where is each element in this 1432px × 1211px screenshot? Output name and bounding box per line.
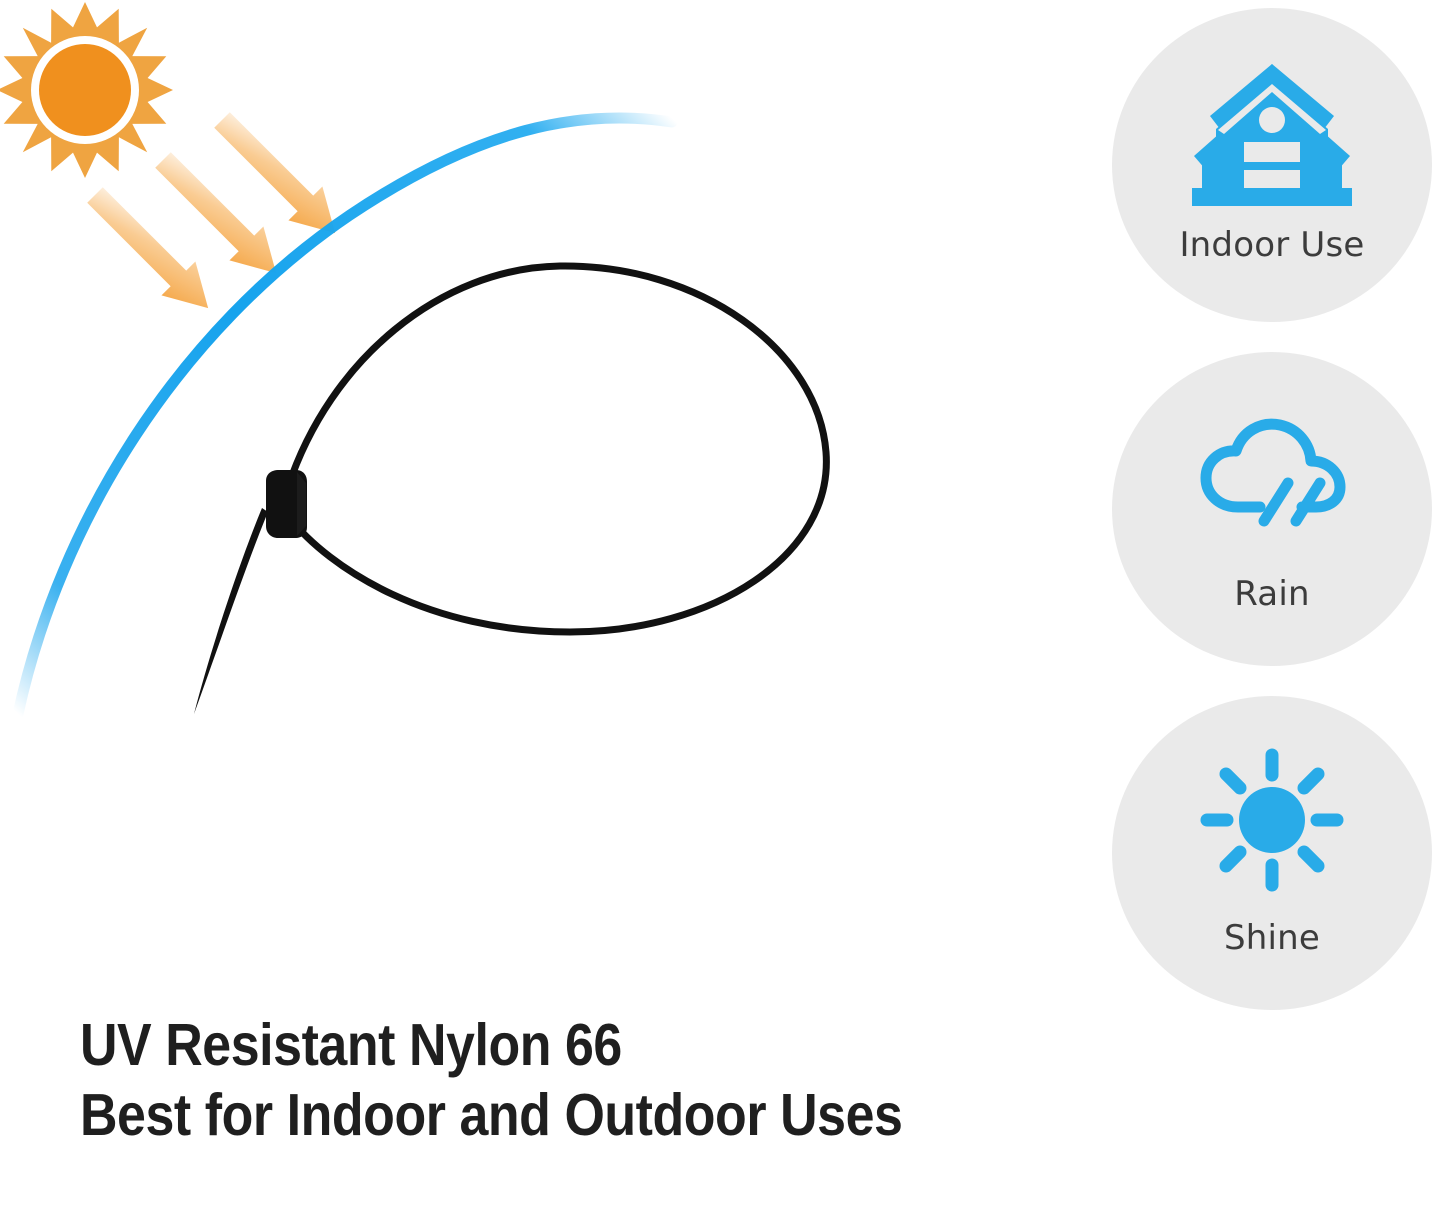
badge-label-shine: Shine	[1224, 921, 1320, 955]
cable-tie-icon	[194, 266, 826, 714]
badge-indoor-use[interactable]: Indoor Use	[1112, 8, 1432, 322]
feature-badge-list: Indoor Use Rain	[1112, 8, 1432, 1010]
headline-line-2: Best for Indoor and Outdoor Uses	[80, 1080, 960, 1150]
sun-burst-icon	[0, 2, 173, 178]
headline-line-1: UV Resistant Nylon 66	[80, 1010, 960, 1080]
headline-block: UV Resistant Nylon 66 Best for Indoor an…	[80, 1010, 1080, 1150]
badge-shine[interactable]: Shine	[1112, 696, 1432, 1010]
badge-rain[interactable]: Rain	[1112, 352, 1432, 666]
sun-icon	[1188, 745, 1356, 895]
badge-label-rain: Rain	[1234, 577, 1310, 611]
house-icon	[1188, 62, 1356, 212]
rain-cloud-icon	[1188, 401, 1356, 551]
badge-label-indoor-use: Indoor Use	[1179, 228, 1364, 262]
illustration-panel	[0, 0, 1060, 1000]
product-infographic: Indoor Use Rain	[0, 0, 1432, 1211]
